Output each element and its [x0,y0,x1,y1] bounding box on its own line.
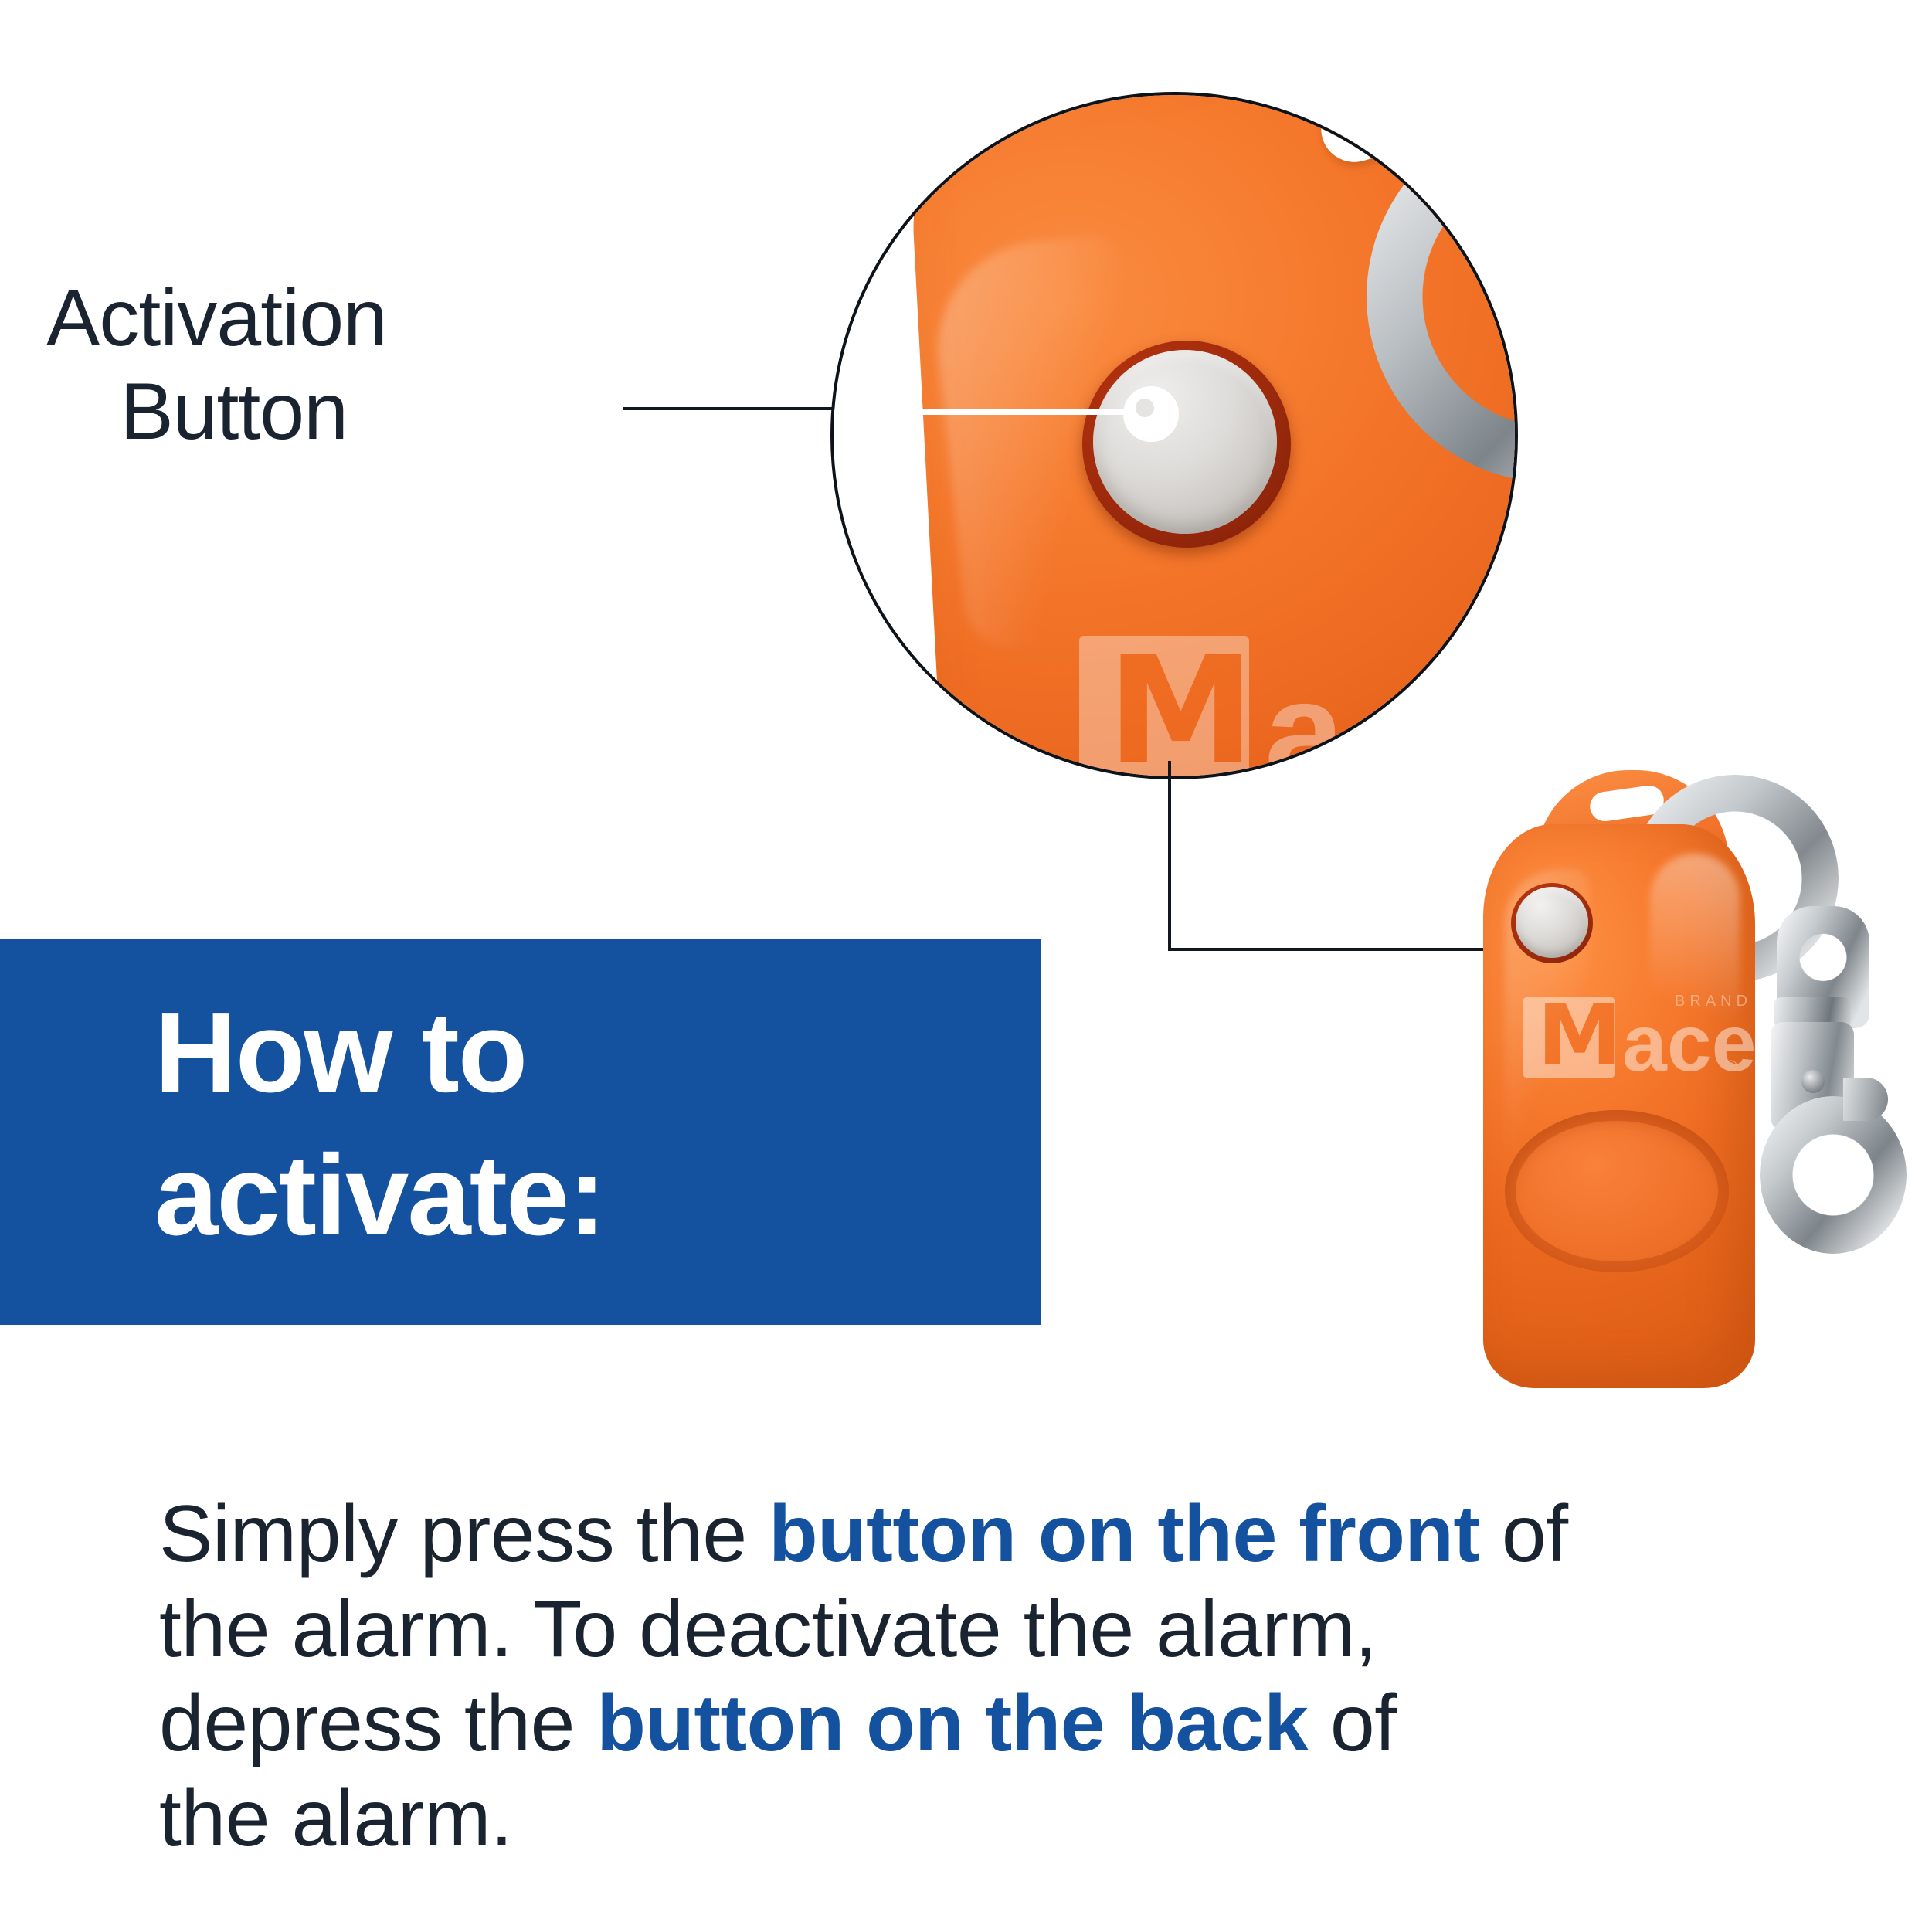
instructions-line-2: the alarm. To deactivate the alarm, [159,1582,1735,1677]
instructions-emphasis-back: button on the back [596,1679,1308,1768]
callout-leader-line-inner [834,409,1133,415]
magnified-logo-m: M [1107,662,1221,778]
product-mace-logo: M ace ® BRAND [1523,993,1732,1078]
instructions-line-3-post: of [1309,1679,1397,1768]
product-photo-personal-alarm: M ace ® BRAND [1468,761,1932,1402]
activation-button-callout-label: Activation Button [46,272,348,458]
connector-line-vertical [1168,761,1171,951]
instructions-line-4: the alarm. [159,1771,1735,1866]
magnified-activation-button [1093,350,1277,534]
magnified-logo-a: a [1265,667,1344,779]
infographic-canvas: Activation Button M a How to activate: [0,0,1932,1932]
instructions-line-3: depress the button on the back of [159,1676,1735,1771]
callout-label-line-1: Activation [46,272,348,365]
product-activation-button [1516,887,1588,958]
instructions-emphasis-front: button on the front [769,1489,1479,1579]
product-logo-registered-icon: ® [1726,1059,1737,1075]
banner-heading-line-2: activate: [154,1124,1020,1267]
product-logo-m: M [1537,1003,1621,1067]
clasp-rivet [1801,1070,1825,1093]
callout-leader-line [623,407,833,410]
instructions-paragraph: Simply press the button on the front of … [159,1487,1735,1866]
lobster-clasp-icon [1743,906,1897,1231]
instructions-line-1: Simply press the button on the front of [159,1487,1735,1582]
product-speaker-grille [1505,1110,1729,1272]
magnified-detail-circle: M a [830,92,1518,779]
instructions-line-1-pre: Simply press the [159,1489,769,1579]
clasp-hook [1760,1096,1907,1254]
clasp-thumb-lever [1843,1078,1888,1121]
banner-heading-line-1: How to [154,981,1020,1124]
magnified-mace-logo: M a [1079,636,1411,779]
connector-line-horizontal [1168,948,1483,951]
product-logo-brand-tagline: BRAND [1675,993,1752,1010]
callout-label-line-2: Button [46,365,348,459]
instructions-line-1-post: of [1480,1489,1568,1579]
target-ring-icon [1123,386,1179,442]
banner-heading: How to activate: [154,981,1020,1267]
instructions-line-3-pre: depress the [159,1679,596,1768]
